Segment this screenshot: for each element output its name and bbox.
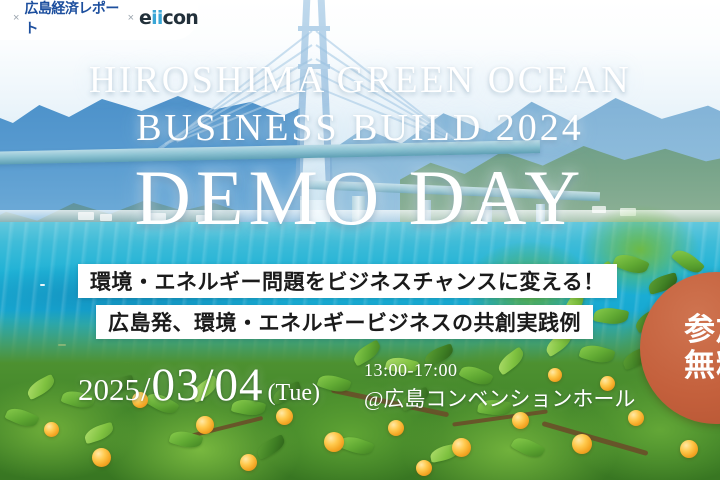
logo-eiicon-prefix: e [139, 7, 151, 29]
citrus-fruit [196, 416, 214, 434]
citrus-fruit [416, 460, 432, 476]
citrus-fruit [452, 438, 471, 457]
headline-block: HIROSHIMA GREEN OCEAN BUSINESS BUILD 202… [0, 56, 720, 152]
citrus-fruit [680, 440, 698, 458]
citrus-fruit [324, 432, 344, 452]
event-details: 13:00-17:00 @広島コンベンションホール [364, 360, 635, 413]
citrus-fruit [44, 422, 59, 437]
logo-separator-right: × [128, 12, 134, 24]
citrus-fruit [388, 420, 404, 436]
headline-line-1: HIROSHIMA GREEN OCEAN [0, 56, 720, 104]
citrus-fruit [572, 434, 592, 454]
event-day-of-week: (Tue) [264, 380, 320, 407]
logo-eiicon-accent-dots: ii [151, 7, 162, 29]
demo-day-title: DEMO DAY [0, 156, 720, 240]
tagline-band-secondary: 広島発、環境・エネルギービジネスの共創実践例 [96, 305, 593, 339]
event-venue: @広島コンベンションホール [364, 383, 635, 413]
citrus-fruit [92, 448, 111, 467]
event-time: 13:00-17:00 [364, 360, 635, 381]
event-date: 2025 / 03/04 (Tue) [78, 358, 320, 412]
tagline-band-primary: 環境・エネルギー問題をビジネスチャンスに変える！ [78, 264, 617, 298]
event-month-day: 03/04 [151, 358, 263, 412]
logo-separator-left: × [13, 12, 19, 24]
event-year: 2025 [78, 372, 140, 408]
bridge-tower-crossbar [298, 26, 330, 31]
event-poster: HIROSHIMA GREEN OCEAN BUSINESS BUILD 202… [0, 0, 720, 480]
date-separator: / [140, 371, 151, 409]
citrus-fruit [240, 454, 257, 471]
logo-hiroshima-keizai-report: 広島経済レポート [24, 0, 122, 38]
partner-logo-bar: × 広島経済レポート × eiicon [0, 0, 198, 40]
citrus-fruit [512, 412, 529, 429]
badge-line-2: 無料 [684, 348, 720, 384]
logo-eiicon: eiicon [139, 7, 198, 29]
logo-eiicon-suffix: con [163, 7, 198, 29]
headline-line-2: BUSINESS BUILD 2024 [0, 104, 720, 152]
badge-line-1: 参加 [684, 312, 720, 348]
